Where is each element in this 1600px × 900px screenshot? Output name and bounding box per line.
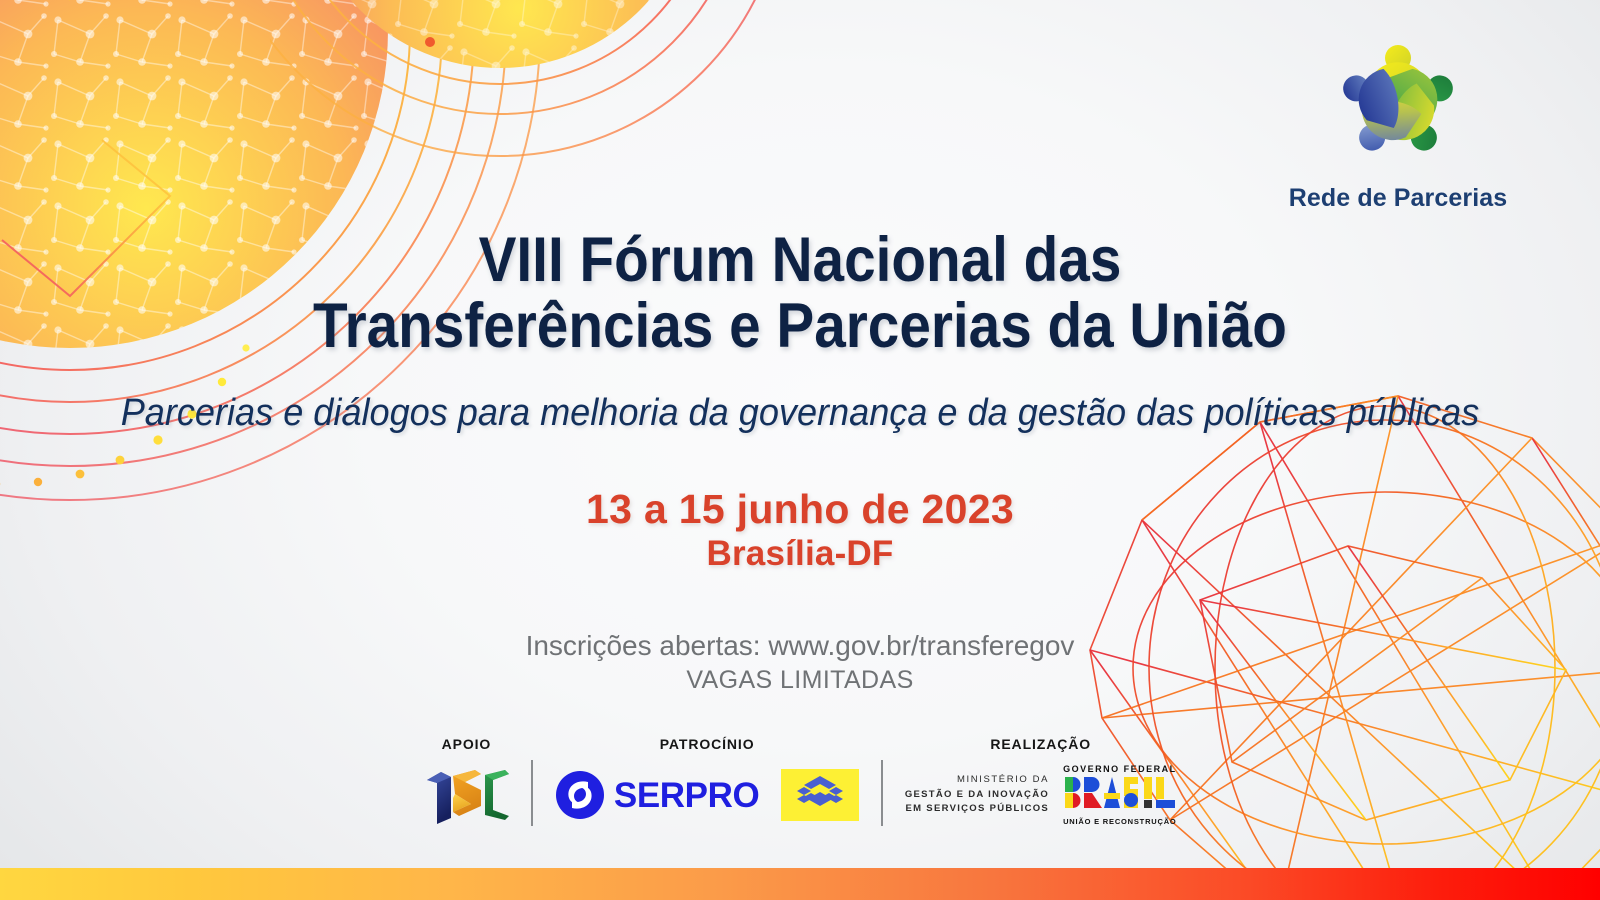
sponsor-group-apoio: APOIO [401, 736, 531, 826]
sponsor-group-patrocinio: PATROCÍNIO SERPRO [533, 736, 881, 826]
sponsor-heading-realizacao: REALIZAÇÃO [990, 736, 1091, 752]
limited-seats-note: VAGAS LIMITADAS [0, 664, 1600, 698]
serpro-swirl-icon [555, 770, 605, 820]
signup-url-text[interactable]: Inscrições abertas: www.gov.br/transfere… [0, 628, 1600, 664]
ministry-line-3: EM SERVIÇOS PÚBLICOS [905, 802, 1049, 817]
sponsor-group-realizacao: REALIZAÇÃO MINISTÉRIO DA GESTÃO E DA INO… [883, 736, 1199, 826]
banco-do-brasil-logo [781, 769, 859, 821]
event-title-line-1: VIII Fórum Nacional das [80, 228, 1520, 294]
event-banner: Rede de Parcerias VIII Fórum Nacional da… [0, 0, 1600, 900]
event-location: Brasília-DF [0, 533, 1600, 574]
serpro-wordmark: SERPRO [614, 778, 759, 813]
event-date-block: 13 a 15 junho de 2023 Brasília-DF [0, 487, 1600, 574]
signup-block: Inscrições abertas: www.gov.br/transfere… [0, 628, 1600, 698]
serpro-logo: SERPRO [555, 770, 759, 820]
sponsor-heading-apoio: APOIO [442, 736, 492, 752]
event-title: VIII Fórum Nacional das Transferências e… [80, 228, 1520, 359]
ministry-line-2: GESTÃO E DA INOVAÇÃO [905, 788, 1049, 803]
bottom-gradient-bar [0, 868, 1600, 900]
ministry-line-1: MINISTÉRIO DA [905, 773, 1049, 788]
ministry-logo: MINISTÉRIO DA GESTÃO E DA INOVAÇÃO EM SE… [905, 773, 1049, 817]
brasil-wordmark-icon [1064, 776, 1176, 810]
uniao-reconstrucao-label: UNIÃO E RECONSTRUÇÃO [1063, 817, 1177, 826]
event-dates: 13 a 15 junho de 2023 [0, 487, 1600, 533]
event-subtitle: Parcerias e diálogos para melhoria da go… [40, 392, 1560, 435]
banco-do-brasil-mark-icon [796, 774, 844, 816]
governo-federal-logo: GOVERNO FEDERAL [1063, 764, 1177, 826]
sponsors-footer: APOIO [0, 736, 1600, 846]
isc-logo [423, 766, 509, 824]
governo-federal-label: GOVERNO FEDERAL [1063, 764, 1177, 774]
sponsor-heading-patrocinio: PATROCÍNIO [660, 736, 755, 752]
event-title-line-2: Transferências e Parcerias da União [80, 294, 1520, 360]
